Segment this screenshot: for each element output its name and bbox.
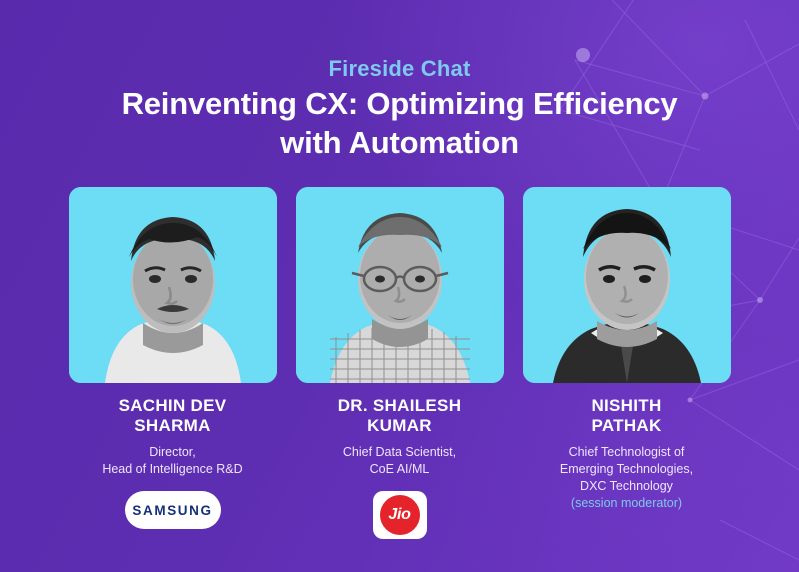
samsung-logo-text: SAMSUNG <box>132 503 212 518</box>
speaker-name-1: SACHIN DEV SHARMA <box>119 396 227 436</box>
jio-logo-text: Jio <box>388 506 410 524</box>
speaker-photo-3 <box>523 187 731 383</box>
fireside-chat-poster: Fireside Chat Reinventing CX: Optimizing… <box>0 0 799 572</box>
speaker-card-2: DR. SHAILESH KUMAR Chief Data Scientist,… <box>296 187 504 539</box>
speakers-row: SACHIN DEV SHARMA Director, Head of Inte… <box>0 187 799 539</box>
portrait-illustration-shailesh <box>296 187 504 383</box>
event-format-label: Fireside Chat <box>0 56 799 82</box>
portrait-illustration-nishith <box>523 187 731 383</box>
speaker-title-2-line-2: CoE AI/ML <box>370 462 430 476</box>
headline-line-1: Reinventing CX: Optimizing Efficiency <box>122 86 678 121</box>
portrait-illustration-sachin <box>69 187 277 383</box>
speaker-card-1: SACHIN DEV SHARMA Director, Head of Inte… <box>69 187 277 539</box>
speaker-name-3: NISHITH PATHAK <box>591 396 661 436</box>
speaker-title-2-line-1: Chief Data Scientist, <box>343 445 456 459</box>
speaker-title-3-line-3: DXC Technology <box>580 479 673 493</box>
jio-logo-circle: Jio <box>380 495 420 535</box>
speaker-name-2-line-2: KUMAR <box>367 416 432 435</box>
speaker-title-3-line-2: Emerging Technologies, <box>560 462 693 476</box>
moderator-note: (session moderator) <box>571 495 682 512</box>
samsung-logo: SAMSUNG <box>125 491 221 529</box>
speaker-photo-1 <box>69 187 277 383</box>
speaker-title-1-line-2: Head of Intelligence R&D <box>102 462 242 476</box>
speaker-name-3-line-2: PATHAK <box>591 416 661 435</box>
speaker-name-2-line-1: DR. SHAILESH <box>338 396 462 415</box>
headline-line-2: with Automation <box>280 125 519 160</box>
speaker-title-1: Director, Head of Intelligence R&D <box>102 444 242 478</box>
speaker-card-3: NISHITH PATHAK Chief Technologist of Eme… <box>523 187 731 539</box>
speaker-name-2: DR. SHAILESH KUMAR <box>338 396 462 436</box>
page-title: Reinventing CX: Optimizing Efficiency wi… <box>50 84 749 162</box>
speaker-title-2: Chief Data Scientist, CoE AI/ML <box>343 444 456 478</box>
speaker-title-3-line-1: Chief Technologist of <box>569 445 685 459</box>
speaker-title-1-line-1: Director, <box>149 445 196 459</box>
speaker-name-1-line-1: SACHIN DEV <box>119 396 227 415</box>
speaker-name-3-line-1: NISHITH <box>591 396 661 415</box>
speaker-title-3: Chief Technologist of Emerging Technolog… <box>560 444 693 495</box>
jio-logo: Jio <box>373 491 427 539</box>
speaker-name-1-line-2: SHARMA <box>134 416 210 435</box>
speaker-photo-2 <box>296 187 504 383</box>
